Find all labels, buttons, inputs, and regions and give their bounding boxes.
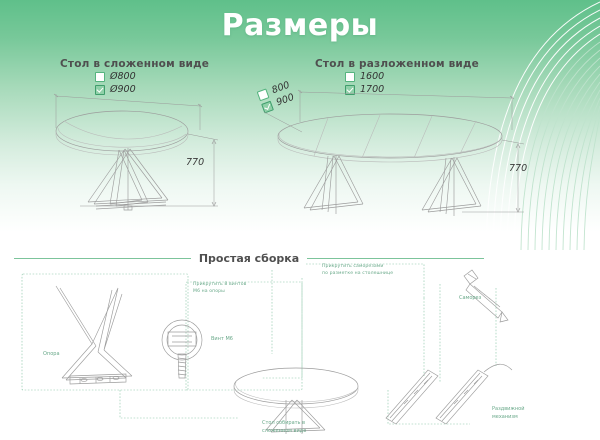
option-row[interactable]: Ø800 [95, 70, 136, 83]
option-label: 1600 [360, 71, 384, 82]
checkbox-unchecked-icon[interactable] [345, 72, 355, 82]
option-row[interactable]: 1600 [345, 70, 384, 83]
caption-assemble-folded: Стол собирать в сложенном виде [262, 420, 306, 435]
infographic-page: Размеры Стол в сложенном виде Ø800 [0, 0, 600, 440]
caption-support: Опора [43, 351, 60, 359]
bolt-m6-illustration [162, 320, 202, 378]
folded-height-dimension: 770 [186, 157, 204, 168]
caption-self-tapping-screw: Саморез [459, 295, 481, 303]
unfolded-table-drawing [262, 86, 532, 218]
caption-bolt-m6: Винт М6 [211, 336, 233, 344]
support-leg-illustration [56, 286, 132, 384]
checkbox-unchecked-icon[interactable] [95, 72, 105, 82]
assembly-note-bolts: Прикрутить 8 винтов М6 на опоры [193, 281, 246, 295]
caption-slide-mechanism: Раздвижной механизм [492, 406, 524, 421]
page-title: Размеры [0, 8, 600, 43]
section-heading-unfolded: Стол в разложенном виде [315, 58, 479, 70]
folded-table-drawing [50, 88, 230, 218]
section-heading-folded: Стол в сложенном виде [60, 58, 209, 70]
unfolded-height-dimension: 770 [509, 163, 527, 174]
assembly-note-screws: Прикрутить саморезами по разметке на сто… [322, 263, 393, 277]
option-label: Ø800 [110, 71, 136, 82]
